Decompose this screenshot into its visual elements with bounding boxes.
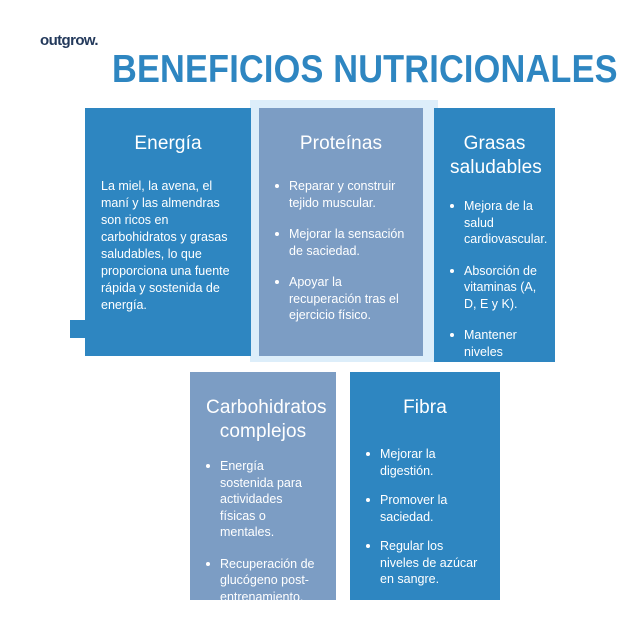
card-fibra: Fibra Mejorar la digestión. Promover la … xyxy=(350,372,500,600)
card-title-energia: Energía xyxy=(101,132,235,156)
card-energia: Energía La miel, la avena, el maní y las… xyxy=(85,108,251,356)
page-title: BENEFICIOS NUTRICIONALES xyxy=(112,48,552,92)
brand-name: outgrow xyxy=(40,32,94,49)
list-item-text: Mejorar la sensación de saciedad. xyxy=(289,227,404,258)
list-item: Mejorar la digestión. xyxy=(366,446,484,479)
list-item-text: Energía sostenida para actividades físic… xyxy=(220,459,302,539)
card-body-proteinas: Reparar y construir tejido muscular. Mej… xyxy=(275,178,407,324)
list-item: Mejorar la sensación de saciedad. xyxy=(275,226,407,259)
card-title-carbohidratos: Carbohidratos complejos xyxy=(206,396,320,444)
bullet-dot-icon xyxy=(366,498,370,502)
card-grasas-saludables: Grasas saludables Mejora de la salud car… xyxy=(434,108,555,362)
bullet-dot-icon xyxy=(275,184,279,188)
bullet-dot-icon xyxy=(450,204,454,208)
list-item: Mejora de la salud cardiovascular. xyxy=(450,198,539,248)
card-body-fibra: Mejorar la digestión. Promover la sacied… xyxy=(366,446,484,588)
card-body-carbohidratos: Energía sostenida para actividades físic… xyxy=(206,458,320,605)
list-item: Reparar y construir tejido muscular. xyxy=(275,178,407,211)
card-body-energia: La miel, la avena, el maní y las almendr… xyxy=(101,178,235,314)
bullet-list-grasas: Mejora de la salud cardiovascular. Absor… xyxy=(450,198,539,393)
list-item-text: Apoyar la recuperación tras el ejercicio… xyxy=(289,275,399,322)
list-item: Apoyar la recuperación tras el ejercicio… xyxy=(275,274,407,324)
card-title-grasas: Grasas saludables xyxy=(450,132,539,180)
bullet-dot-icon xyxy=(275,280,279,284)
list-item: Regular los niveles de azúcar en sangre. xyxy=(366,538,484,588)
list-item-text: Mejora de la salud cardiovascular. xyxy=(464,199,547,246)
bullet-list-carbohidratos: Energía sostenida para actividades físic… xyxy=(206,458,320,605)
card-carbohidratos-complejos: Carbohidratos complejos Energía sostenid… xyxy=(190,372,336,600)
card-proteinas: Proteínas Reparar y construir tejido mus… xyxy=(259,108,423,356)
bullet-dot-icon xyxy=(366,452,370,456)
list-item-text: Absorción de vitaminas (A, D, E y K). xyxy=(464,264,537,311)
card-body-grasas: Mejora de la salud cardiovascular. Absor… xyxy=(450,198,539,393)
bullet-dot-icon xyxy=(450,333,454,337)
bullet-dot-icon xyxy=(366,544,370,548)
bullet-dot-icon xyxy=(206,562,210,566)
list-item-text: Reparar y construir tejido muscular. xyxy=(289,179,395,210)
list-item: Recuperación de glucógeno post-entrenami… xyxy=(206,556,320,606)
list-item-text: Recuperación de glucógeno post-entrenami… xyxy=(220,557,315,604)
list-item: Energía sostenida para actividades físic… xyxy=(206,458,320,541)
list-item-text: Regular los niveles de azúcar en sangre. xyxy=(380,539,477,586)
bullet-dot-icon xyxy=(450,269,454,273)
card-title-proteinas: Proteínas xyxy=(275,132,407,156)
brand-dot: . xyxy=(94,32,98,49)
bullet-list-proteinas: Reparar y construir tejido muscular. Mej… xyxy=(275,178,407,324)
card-paragraph-energia: La miel, la avena, el maní y las almendr… xyxy=(101,178,235,314)
outgrow-logo: outgrow. xyxy=(40,33,98,48)
bullet-dot-icon xyxy=(206,464,210,468)
list-item: Absorción de vitaminas (A, D, E y K). xyxy=(450,263,539,313)
bullet-dot-icon xyxy=(275,232,279,236)
bullet-list-fibra: Mejorar la digestión. Promover la sacied… xyxy=(366,446,484,588)
list-item: Promover la saciedad. xyxy=(366,492,484,525)
card-title-fibra: Fibra xyxy=(366,396,484,420)
list-item-text: Promover la saciedad. xyxy=(380,493,447,524)
list-item-text: Mejorar la digestión. xyxy=(380,447,436,478)
